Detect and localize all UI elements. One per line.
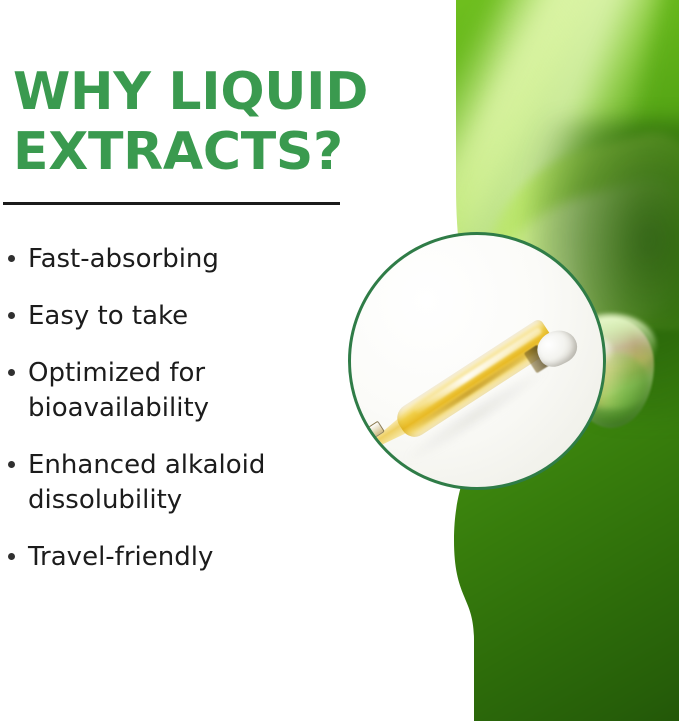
list-item-label: Enhanced alkaloid dissolubility bbox=[28, 450, 265, 515]
page-title: WHY LIQUID EXTRACTS? bbox=[13, 62, 433, 182]
bullet-dot-icon bbox=[8, 255, 15, 262]
list-item: Optimized for bioavailability bbox=[4, 356, 344, 426]
bullet-dot-icon bbox=[8, 553, 15, 560]
bullet-dot-icon bbox=[8, 369, 15, 376]
dropper-circle-inset bbox=[348, 232, 606, 490]
list-item-label: Easy to take bbox=[28, 301, 188, 331]
list-item: Enhanced alkaloid dissolubility bbox=[4, 448, 344, 518]
list-item: Easy to take bbox=[4, 299, 344, 334]
list-item: Fast-absorbing bbox=[4, 242, 344, 277]
title-divider bbox=[3, 202, 340, 205]
benefits-list: Fast-absorbing Easy to take Optimized fo… bbox=[4, 242, 344, 597]
bullet-dot-icon bbox=[8, 461, 15, 468]
bullet-dot-icon bbox=[8, 312, 15, 319]
infographic-canvas: WHY LIQUID EXTRACTS? Fast-absorbing Easy… bbox=[0, 0, 679, 721]
list-item: Travel-friendly bbox=[4, 540, 344, 575]
list-item-label: Optimized for bioavailability bbox=[28, 358, 209, 423]
list-item-label: Fast-absorbing bbox=[28, 244, 219, 274]
list-item-label: Travel-friendly bbox=[28, 542, 213, 572]
